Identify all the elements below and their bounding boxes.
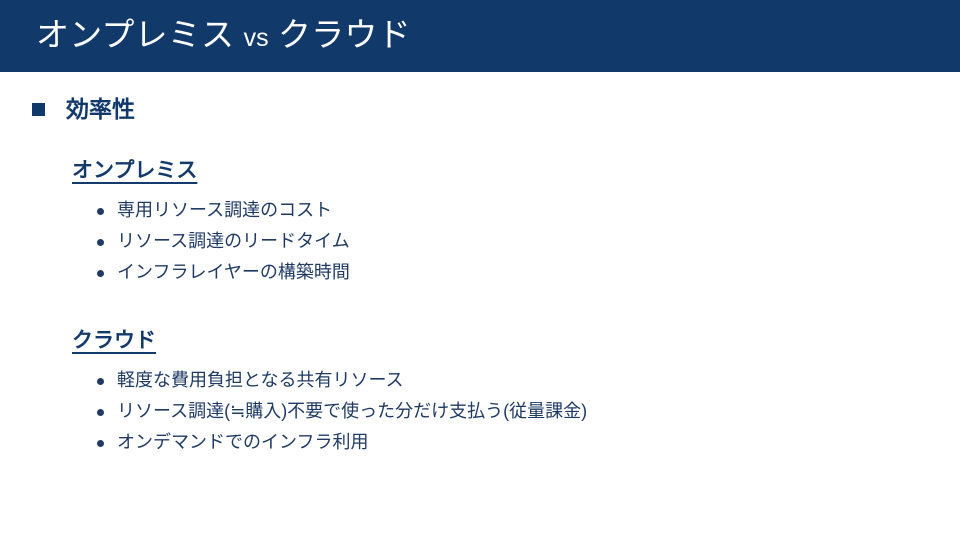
slide-title: オンプレミス vs クラウド <box>36 9 411 64</box>
slide: オンプレミス vs クラウド 効率性 オンプレミス 専用リソース調達のコスト リ… <box>0 0 960 540</box>
group-cloud: クラウド 軽度な費用負担となる共有リソース リソース調達(≒購入)不要で使った分… <box>72 328 587 458</box>
list-item: オンデマンドでのインフラ利用 <box>72 427 587 458</box>
list-item-label: リソース調達(≒購入)不要で使った分だけ支払う(従量課金) <box>117 401 587 421</box>
section-heading-label: 効率性 <box>66 94 135 124</box>
round-bullet-icon <box>97 270 104 277</box>
round-bullet-icon <box>97 208 104 215</box>
list-item-label: 軽度な費用負担となる共有リソース <box>117 370 404 390</box>
slide-title-suffix: クラウド <box>278 16 411 53</box>
slide-body: 効率性 オンプレミス 専用リソース調達のコスト リソース調達のリードタイム イン… <box>0 72 960 540</box>
list-item: 軽度な費用負担となる共有リソース <box>72 365 587 396</box>
list-item-label: 専用リソース調達のコスト <box>117 200 332 220</box>
group-onpremises: オンプレミス 専用リソース調達のコスト リソース調達のリードタイム インフラレイ… <box>72 158 350 288</box>
list-item-label: オンデマンドでのインフラ利用 <box>117 432 368 452</box>
list-item-label: リソース調達のリードタイム <box>117 231 350 251</box>
list-item: インフラレイヤーの構築時間 <box>72 257 350 288</box>
round-bullet-icon <box>97 378 104 385</box>
group-title-onpremises: オンプレミス <box>72 158 197 184</box>
round-bullet-icon <box>97 440 104 447</box>
round-bullet-icon <box>97 409 104 416</box>
slide-title-prefix: オンプレミス <box>36 16 234 53</box>
slide-title-separator: vs <box>244 24 269 52</box>
list-item: 専用リソース調達のコスト <box>72 195 350 226</box>
square-bullet-icon <box>32 103 45 116</box>
list-item: リソース調達(≒購入)不要で使った分だけ支払う(従量課金) <box>72 396 587 427</box>
bullet-list-onpremises: 専用リソース調達のコスト リソース調達のリードタイム インフラレイヤーの構築時間 <box>72 195 350 288</box>
bullet-list-cloud: 軽度な費用負担となる共有リソース リソース調達(≒購入)不要で使った分だけ支払う… <box>72 365 587 458</box>
list-item: リソース調達のリードタイム <box>72 226 350 257</box>
group-title-cloud: クラウド <box>72 328 156 354</box>
slide-title-bar: オンプレミス vs クラウド <box>0 0 960 72</box>
round-bullet-icon <box>97 239 104 246</box>
list-item-label: インフラレイヤーの構築時間 <box>117 262 350 282</box>
section-heading: 効率性 <box>32 94 135 124</box>
